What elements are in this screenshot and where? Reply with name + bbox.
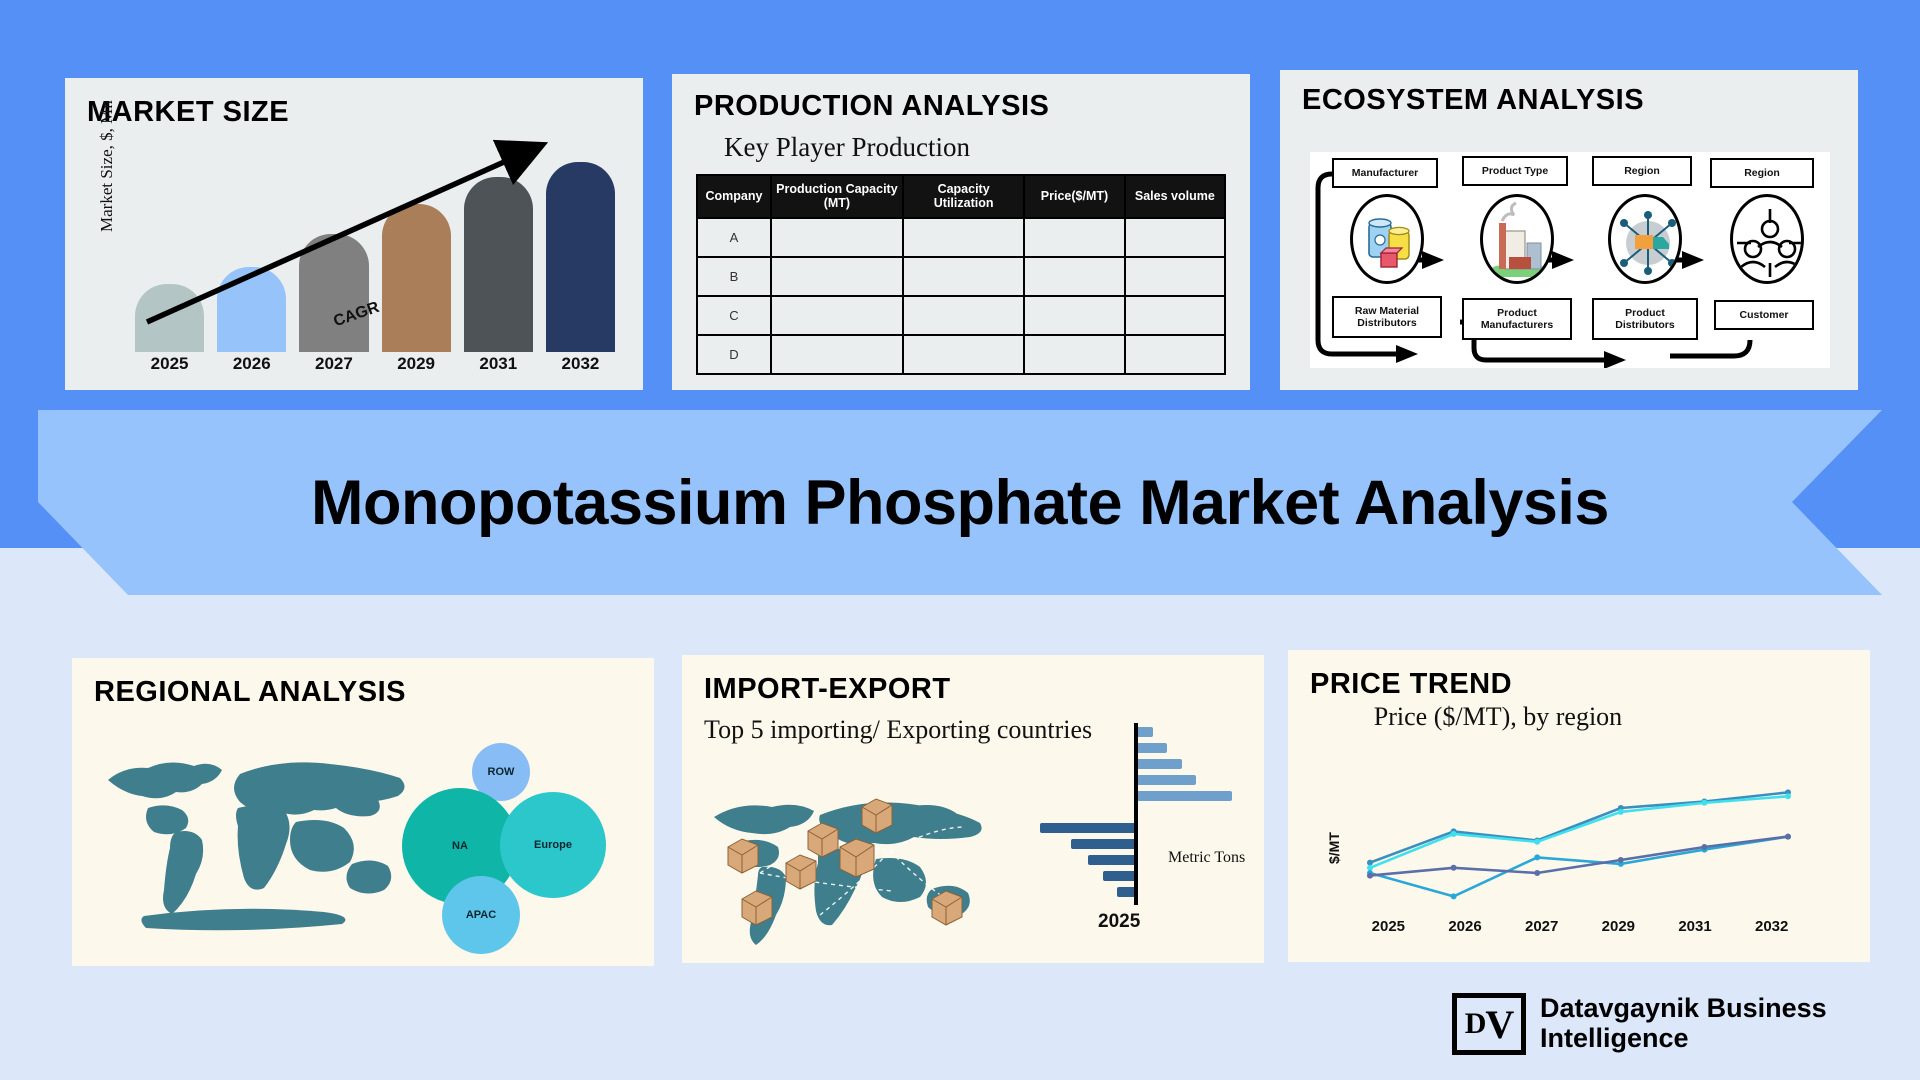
price-trend-chart: $/MT 202520262027202920312032 — [1288, 650, 1870, 962]
world-map-icon — [90, 736, 420, 946]
tornado-import-bar — [1136, 791, 1232, 801]
ecosystem-top-label-1: Product Type — [1462, 156, 1568, 186]
production-table-cell — [1125, 218, 1225, 257]
production-table-cell — [1125, 335, 1225, 374]
production-table-cell — [1024, 296, 1124, 335]
price-trend-point — [1534, 854, 1540, 860]
tornado-import-bar — [1136, 759, 1182, 769]
production-table-cell — [1125, 296, 1225, 335]
regional-bubble-apac[interactable]: APAC — [442, 876, 520, 954]
price-trend-year: 2031 — [1657, 918, 1734, 935]
main-title-ribbon: Monopotassium Phosphate Market Analysis — [38, 410, 1882, 595]
price-trend-point — [1618, 809, 1624, 815]
market-size-bar — [299, 234, 368, 352]
production-table-cell — [1024, 257, 1124, 296]
market-size-year: 2032 — [546, 354, 615, 378]
world-trade-map-icon — [700, 773, 1030, 949]
production-table-body: ABCD — [697, 218, 1225, 374]
regional-bubble-europe[interactable]: Europe — [500, 792, 606, 898]
price-trend-year: 2027 — [1503, 918, 1580, 935]
logo-line-2: Intelligence — [1540, 1024, 1827, 1054]
table-row: A — [697, 218, 1225, 257]
market-size-year: 2031 — [464, 354, 533, 378]
tornado-export-bar — [1088, 855, 1136, 865]
market-size-bar — [135, 284, 204, 352]
import-export-subtitle: Top 5 importing/ Exporting countries — [704, 715, 1092, 745]
market-size-chart: Market Size, $, Mn 202520262027202920312… — [65, 136, 643, 386]
logo-letter-d: D — [1465, 1007, 1486, 1041]
distribution-network-icon — [1608, 194, 1682, 284]
production-table-header: Price($/MT) — [1024, 175, 1124, 218]
ecosystem-bottom-label-1: Product Manufacturers — [1462, 298, 1572, 340]
market-size-year: 2026 — [217, 354, 286, 378]
market-size-year: 2029 — [382, 354, 451, 378]
market-size-bar-wrap — [135, 162, 204, 352]
production-table: CompanyProduction Capacity (MT)Capacity … — [696, 174, 1226, 375]
price-trend-point — [1534, 870, 1540, 876]
price-trend-point — [1451, 865, 1457, 871]
price-trend-year: 2026 — [1427, 918, 1504, 935]
ecosystem-bottom-label-3: Customer — [1714, 300, 1814, 330]
price-trend-point — [1701, 800, 1707, 806]
price-trend-lines — [1344, 770, 1814, 920]
logo-wordmark: Datavgaynik Business Intelligence — [1540, 994, 1827, 1053]
market-size-bar-wrap — [546, 162, 615, 352]
tornado-import-bar — [1136, 743, 1167, 753]
logo-letter-v: V — [1485, 1001, 1513, 1048]
price-trend-year: 2029 — [1580, 918, 1657, 935]
production-table-cell: B — [697, 257, 771, 296]
price-trend-year: 2032 — [1733, 918, 1810, 935]
tornado-axis — [1134, 723, 1138, 905]
logo-mark-dv: DV — [1452, 993, 1526, 1055]
market-size-year: 2025 — [135, 354, 204, 378]
market-size-year-labels: 202520262027202920312032 — [135, 354, 615, 378]
market-size-bar — [382, 204, 451, 352]
price-trend-point — [1367, 873, 1373, 879]
production-table-cell — [771, 296, 903, 335]
price-trend-card: PRICE TREND Price ($/MT), by region $/MT… — [1288, 650, 1870, 962]
market-size-card: MARKET SIZE Market Size, $, Mn 202520262… — [65, 78, 643, 390]
price-trend-point — [1534, 839, 1540, 845]
tornado-export-bar — [1103, 871, 1136, 881]
production-table-cell — [903, 335, 1024, 374]
table-row: D — [697, 335, 1225, 374]
production-table-header: Production Capacity (MT) — [771, 175, 903, 218]
production-table-cell: C — [697, 296, 771, 335]
regional-analysis-card: REGIONAL ANALYSIS ROW NA Europe APAC — [72, 658, 654, 966]
ecosystem-top-label-2: Region — [1592, 156, 1692, 186]
market-size-bar-wrap — [217, 162, 286, 352]
import-export-tornado-chart: Metric Tons 2025 — [1050, 723, 1250, 933]
production-analysis-card: PRODUCTION ANALYSIS Key Player Productio… — [672, 74, 1250, 390]
ecosystem-analysis-title: ECOSYSTEM ANALYSIS — [1302, 84, 1644, 117]
ecosystem-top-label-3: Region — [1710, 158, 1814, 188]
price-trend-point — [1451, 831, 1457, 837]
table-row: B — [697, 257, 1225, 296]
production-table-cell — [1125, 257, 1225, 296]
price-trend-point — [1785, 793, 1791, 799]
tornado-export-bar — [1040, 823, 1136, 833]
price-trend-point — [1367, 865, 1373, 871]
market-size-bar-wrap — [382, 162, 451, 352]
production-table-header: Capacity Utilization — [903, 175, 1024, 218]
price-trend-x-labels: 202520262027202920312032 — [1350, 918, 1810, 935]
factory-icon — [1480, 194, 1554, 284]
market-size-y-axis-label: Market Size, $, Mn — [97, 100, 117, 232]
import-export-title: IMPORT-EXPORT — [704, 673, 951, 706]
market-size-bars — [135, 162, 615, 352]
regional-analysis-title: REGIONAL ANALYSIS — [94, 676, 406, 709]
price-trend-point — [1451, 893, 1457, 899]
production-table-header: Sales volume — [1125, 175, 1225, 218]
production-table-cell — [903, 296, 1024, 335]
ecosystem-bottom-label-0: Raw Material Distributors — [1332, 296, 1442, 338]
market-size-title: MARKET SIZE — [87, 96, 289, 129]
price-trend-point — [1618, 857, 1624, 863]
production-table-cell — [903, 218, 1024, 257]
production-table-cell: A — [697, 218, 771, 257]
market-size-bar — [546, 162, 615, 352]
table-row: C — [697, 296, 1225, 335]
page-title: Monopotassium Phosphate Market Analysis — [311, 467, 1609, 539]
logo-line-1: Datavgaynik Business — [1540, 994, 1827, 1024]
tornado-unit-label: Metric Tons — [1168, 849, 1245, 867]
tornado-import-bar — [1136, 775, 1196, 785]
price-trend-y-axis-label: $/MT — [1326, 832, 1342, 864]
ecosystem-analysis-card: ECOSYSTEM ANALYSIS Manufacturer Product … — [1280, 70, 1858, 390]
production-analysis-title: PRODUCTION ANALYSIS — [694, 90, 1049, 123]
production-analysis-subtitle: Key Player Production — [724, 132, 970, 163]
ecosystem-diagram: Manufacturer Product Type Region Region — [1310, 152, 1830, 368]
price-trend-point — [1701, 844, 1707, 850]
production-table-cell — [1024, 335, 1124, 374]
tornado-import-bar — [1136, 727, 1153, 737]
production-table-cell: D — [697, 335, 771, 374]
price-trend-point — [1367, 860, 1373, 866]
market-size-bar — [217, 267, 286, 353]
price-trend-point — [1785, 834, 1791, 840]
production-table-cell — [1024, 218, 1124, 257]
customer-group-icon — [1730, 194, 1804, 284]
production-table-cell — [771, 257, 903, 296]
ecosystem-top-label-0: Manufacturer — [1332, 158, 1438, 188]
production-table-header-row: CompanyProduction Capacity (MT)Capacity … — [697, 175, 1225, 218]
tornado-export-bar — [1071, 839, 1136, 849]
import-export-card: IMPORT-EXPORT Top 5 importing/ Exporting… — [682, 655, 1264, 963]
market-size-bar-wrap — [464, 162, 533, 352]
raw-material-drums-icon — [1350, 194, 1424, 284]
tornado-year-label: 2025 — [1098, 911, 1140, 933]
ecosystem-bottom-label-2: Product Distributors — [1592, 298, 1698, 340]
company-logo: DV Datavgaynik Business Intelligence — [1452, 993, 1827, 1055]
production-table-header: Company — [697, 175, 771, 218]
production-table-cell — [771, 218, 903, 257]
production-table-cell — [903, 257, 1024, 296]
market-size-year: 2027 — [299, 354, 368, 378]
production-table-cell — [771, 335, 903, 374]
price-trend-series-line — [1370, 796, 1788, 868]
price-trend-year: 2025 — [1350, 918, 1427, 935]
market-size-bar — [464, 177, 533, 352]
